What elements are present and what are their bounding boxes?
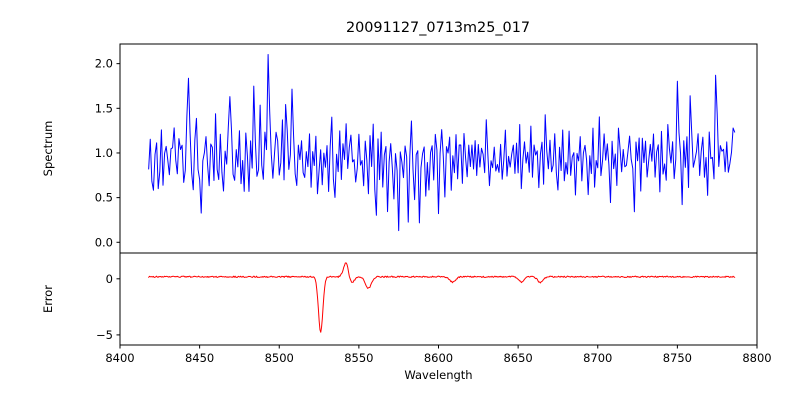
figure-canvas: 20091127_0713m25_017 0.00.51.01.52.0 Spe… <box>0 0 800 400</box>
error-plot-area <box>120 253 757 345</box>
x-tick-label: 8600 <box>424 351 453 365</box>
x-tick-label: 8750 <box>663 351 692 365</box>
spectrum-y-tick-label: 0.0 <box>95 235 113 249</box>
x-tick-label: 8500 <box>265 351 294 365</box>
spectrum-y-tick-label: 1.0 <box>95 146 113 160</box>
error-y-tick-label: −5 <box>96 328 113 342</box>
x-tick-label: 8550 <box>344 351 373 365</box>
x-tick-label: 8450 <box>185 351 214 365</box>
spectrum-y-tick-label: 1.5 <box>95 101 113 115</box>
x-tick-label: 8700 <box>583 351 612 365</box>
page-title: 20091127_0713m25_017 <box>346 20 530 36</box>
spectrum-y-axis-label: Spectrum <box>41 121 55 177</box>
x-tick-label: 8800 <box>742 351 771 365</box>
x-tick-label: 8650 <box>503 351 532 365</box>
x-axis-label: Wavelength <box>404 368 472 382</box>
spectrum-panel: 0.00.51.01.52.0 Spectrum <box>41 44 757 253</box>
spectrum-y-tick-label: 2.0 <box>95 57 113 71</box>
x-tick-label: 8400 <box>105 351 134 365</box>
error-y-axis-label: Error <box>41 285 55 313</box>
spectrum-figure: 20091127_0713m25_017 0.00.51.01.52.0 Spe… <box>0 0 800 400</box>
error-y-tick-label: 0 <box>106 272 113 286</box>
spectrum-y-tick-label: 0.5 <box>95 191 113 205</box>
